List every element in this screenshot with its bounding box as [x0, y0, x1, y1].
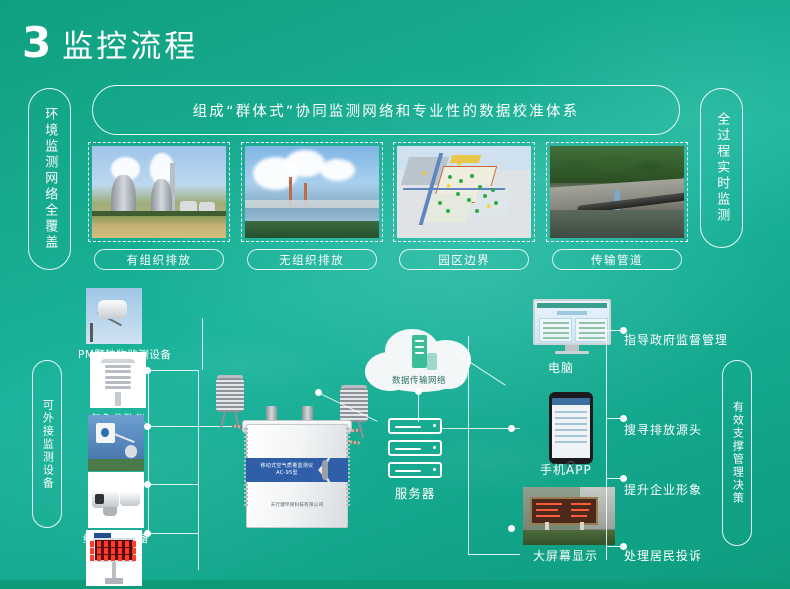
analyzer-model-text: AC-95型 [276, 470, 298, 478]
vertical-label-text: 有效支撑管理决策 [730, 401, 745, 505]
transfer-pipeline-photo [550, 146, 684, 238]
analyzer-door-handle [322, 460, 328, 480]
photo-caption: 无组织排放 [247, 249, 377, 270]
connector-node [144, 423, 151, 430]
benefit-government-supervision: 指导政府监督管理 [624, 331, 728, 348]
connector-node [620, 327, 627, 334]
label-full-process-realtime: 全过程实时监测 [700, 88, 743, 248]
park-boundary-map [397, 146, 531, 238]
cloud-label: 数据传输网络 [363, 374, 475, 386]
server-label: 服务器 [383, 483, 447, 502]
photo-cell-transfer-pipeline: 传输管道 [546, 142, 688, 277]
left-connector-branch [148, 484, 198, 485]
led-display-board-photo [523, 487, 615, 545]
smartphone-photo [549, 392, 593, 464]
connector-node [620, 543, 627, 550]
connector-node [144, 530, 151, 537]
page-title: 3 监控流程 [22, 22, 198, 64]
device-noise: 噪音监测设备 [78, 530, 150, 589]
connector-node [144, 481, 151, 488]
device-pm-sensor: PM颗粒物监测设备 [78, 288, 150, 362]
label-support-decisions: 有效支撑管理决策 [722, 360, 752, 546]
left-connector-branch [148, 370, 198, 371]
connector-node [415, 388, 422, 395]
connector-node [620, 475, 627, 482]
analyzer-company-text: 天行健环保科技有限公司 [246, 502, 348, 508]
output-label-big-screen: 大屏幕显示 [533, 547, 598, 564]
infrared-monitor-photo [88, 472, 144, 528]
photo-caption: 有组织排放 [94, 249, 224, 270]
analyzer-brand-banner: 移动式空气质量监测仪 AC-95型 [246, 458, 328, 482]
server-icon [388, 418, 442, 480]
network-banner: 组成“群体式”协同监测网络和专业性的数据校准体系 [92, 85, 680, 135]
vertical-label-text: 全过程实时监测 [713, 112, 731, 224]
photo-frame [241, 142, 383, 242]
vertical-label-text: 可外接监测设备 [40, 399, 55, 490]
left-connector-trunk [198, 370, 199, 570]
desktop-computer-photo [533, 299, 611, 355]
left-connector-spine [148, 370, 149, 534]
cooling-towers-photo [92, 146, 226, 238]
bay-smokestacks-photo [245, 146, 379, 238]
benefit-find-emission-source: 搜寻排放源头 [624, 421, 702, 438]
connector-node [508, 425, 515, 432]
label-environment-network-coverage: 环境监测网络全覆盖 [28, 88, 71, 270]
output-label-mobile-app: 手机APP [540, 461, 592, 478]
banner-text: 组成“群体式”协同监测网络和专业性的数据校准体系 [193, 100, 580, 121]
benefit-handle-complaints: 处理居民投诉 [624, 547, 702, 564]
photo-caption: 传输管道 [552, 249, 682, 270]
connector-node [508, 525, 515, 532]
photo-frame [393, 142, 535, 242]
left-connector-branch [148, 533, 198, 534]
photo-cell-unorganized-emission: 无组织排放 [241, 142, 383, 277]
photo-cell-organized-emission: 有组织排放 [88, 142, 230, 277]
section-title: 监控流程 [62, 32, 198, 63]
benefit-connector-spine [606, 330, 607, 560]
benefit-improve-image: 提升企业形象 [624, 481, 702, 498]
cloud-server-rack-icon [412, 335, 427, 369]
label-external-devices: 可外接监测设备 [32, 360, 62, 528]
photo-frame [546, 142, 688, 242]
connector-node [144, 367, 151, 374]
section-number: 3 [22, 22, 50, 64]
output-label-computer: 电脑 [548, 359, 574, 376]
photo-strip: 有组织排放 无组织排放 [88, 142, 688, 277]
connector-node [315, 389, 322, 396]
right-connector-trunk [468, 336, 469, 554]
weather-station-photo [90, 352, 146, 408]
pm-sensor-photo [86, 288, 142, 344]
photo-cell-park-boundary: 园区边界 [393, 142, 535, 277]
noise-monitor-photo [86, 530, 142, 586]
left-top-connector [202, 318, 203, 370]
surveillance-camera-photo [88, 415, 144, 471]
analyzer-brand-text: 移动式空气质量监测仪 [260, 463, 313, 471]
air-quality-analyzer-cabinet: 移动式空气质量监测仪 AC-95型 天行健环保科技有限公司 [238, 398, 356, 528]
right-connector-branch [468, 554, 520, 555]
cloud-server-rack-small-icon [427, 353, 437, 370]
photo-caption: 园区边界 [399, 249, 529, 270]
connector-node [620, 415, 627, 422]
photo-frame [88, 142, 230, 242]
vertical-label-text: 环境监测网络全覆盖 [41, 107, 59, 251]
